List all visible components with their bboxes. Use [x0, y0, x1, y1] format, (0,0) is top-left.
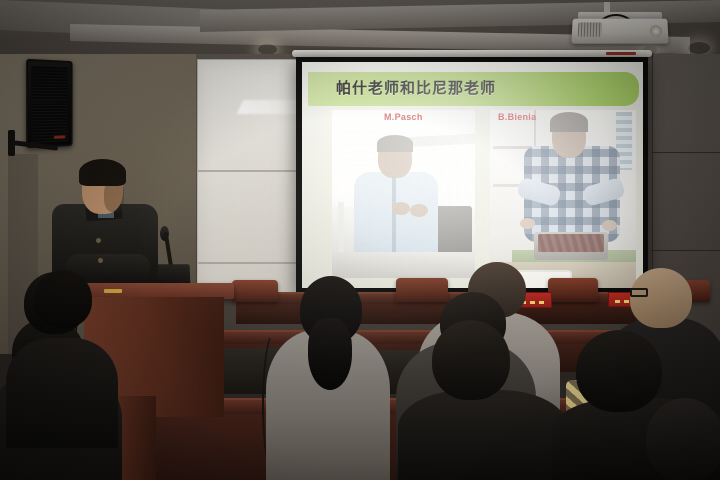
photo-stool: [338, 202, 344, 254]
photo-person-hair: [550, 112, 588, 132]
presenter-jacket-button: [98, 258, 103, 263]
projection-screen-frame: 帕什老师和比尼那老师: [296, 57, 648, 292]
photo-person-hair: [377, 135, 413, 152]
presenter-hair: [79, 159, 126, 186]
slide-photo-right-caption: B.Bienia: [498, 112, 536, 122]
projection-screen: 帕什老师和比尼那老师: [302, 62, 643, 288]
photo-shelf-edge: [493, 146, 531, 149]
photo-person-hand: [392, 202, 410, 215]
speaker-grille-upper: [31, 65, 68, 100]
speaker-badge: [54, 135, 65, 138]
audience-member: [6, 338, 118, 448]
chair-back: [396, 278, 448, 302]
screen-brand-badge: [606, 52, 636, 55]
slide-photo-left-caption: M.Pasch: [384, 112, 423, 122]
audience-head: [34, 270, 92, 328]
photo-desk: [332, 252, 475, 278]
projector-vent: [578, 22, 602, 36]
chair-back: [548, 278, 598, 302]
wall-panel-seam: [652, 152, 720, 153]
photo-tray-contents: [538, 234, 604, 252]
whiteboard-seam: [198, 262, 302, 264]
screen-roller-housing: [292, 50, 652, 57]
photo-person-hand: [410, 204, 428, 217]
whiteboard-seam: [198, 170, 302, 172]
audience-ponytail: [308, 318, 352, 390]
audience-member: [398, 390, 568, 480]
audience-head: [576, 330, 662, 412]
slide-photo-left: [332, 110, 475, 278]
speaker-icon: [26, 59, 72, 148]
audience-head: [630, 268, 692, 328]
photo-person-hand: [520, 218, 535, 229]
audience-glasses-icon: [630, 288, 648, 297]
slide-photo-right: [490, 110, 636, 288]
projector-lens: [650, 25, 662, 37]
lecture-hall-photo: 帕什老师和比尼那老师: [0, 0, 720, 480]
photo-person-hand: [602, 220, 617, 231]
audience-head: [432, 320, 510, 400]
audience-head: [646, 398, 720, 480]
presentation-slide: 帕什老师和比尼那老师: [302, 62, 643, 288]
slide-title: 帕什老师和比尼那老师: [336, 77, 496, 98]
chair-back: [232, 280, 278, 302]
presenter-jacket-button: [96, 238, 101, 243]
podium-badge: [104, 289, 122, 293]
projector-icon: [571, 19, 668, 44]
wall-panel-seam: [652, 250, 720, 251]
whiteboard: [197, 59, 303, 299]
ceiling-downlight: [688, 42, 710, 54]
